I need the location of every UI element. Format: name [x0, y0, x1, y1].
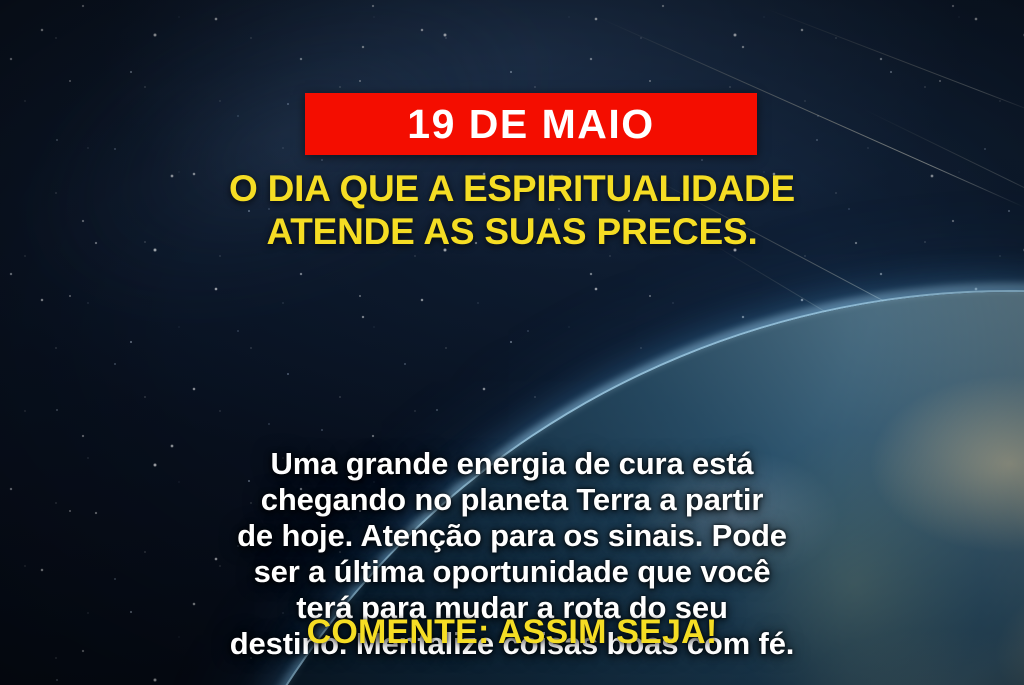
body-line-3: de hoje. Atenção para os sinais. Pode	[0, 518, 1024, 554]
headline-line-2: ATENDE AS SUAS PRECES.	[0, 210, 1024, 253]
poster-canvas: 19 DE MAIO O DIA QUE A ESPIRITUALIDADE A…	[0, 0, 1024, 685]
call-to-action-text: COMENTE: ASSIM SEJA!	[0, 615, 1024, 649]
body-line-1: Uma grande energia de cura está	[0, 446, 1024, 482]
poster-content: 19 DE MAIO O DIA QUE A ESPIRITUALIDADE A…	[0, 0, 1024, 685]
date-banner: 19 DE MAIO	[305, 93, 757, 155]
headline: O DIA QUE A ESPIRITUALIDADE ATENDE AS SU…	[0, 167, 1024, 254]
date-banner-text: 19 DE MAIO	[407, 104, 654, 145]
headline-line-1: O DIA QUE A ESPIRITUALIDADE	[0, 167, 1024, 210]
body-line-4: ser a última oportunidade que você	[0, 554, 1024, 590]
body-line-2: chegando no planeta Terra a partir	[0, 482, 1024, 518]
